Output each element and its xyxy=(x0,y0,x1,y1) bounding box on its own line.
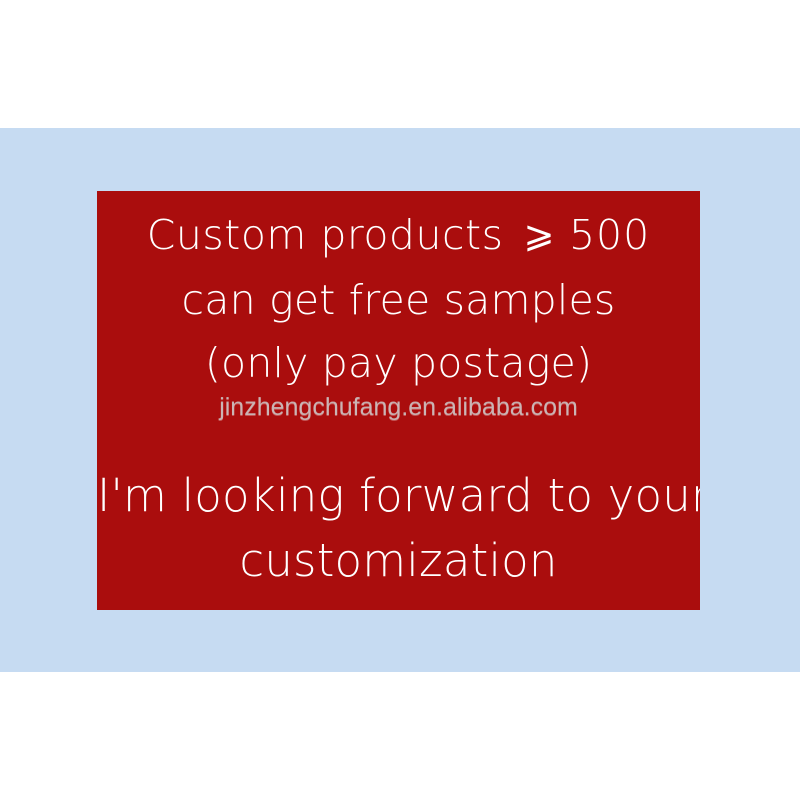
greater-than-or-equal-icon: ⩾ xyxy=(503,213,569,256)
promo-line1-prefix: Custom products xyxy=(147,211,504,259)
promo-line-custom-products: Custom products⩾500 xyxy=(97,215,700,256)
promo-panel: Custom products⩾500 can get free samples… xyxy=(97,191,700,610)
promo-line-only-pay-postage: (only pay postage) xyxy=(97,343,700,384)
promo-line-free-samples: can get free samples xyxy=(97,280,700,321)
image-canvas: Custom products⩾500 can get free samples… xyxy=(0,0,800,800)
watermark-url: jinzhengchufang.en.alibaba.com xyxy=(97,395,700,420)
promo-line-customization: customization xyxy=(97,538,700,583)
promo-line-looking-forward: I'm looking forward to your xyxy=(97,473,700,518)
promo-line1-quantity: 500 xyxy=(569,211,650,259)
